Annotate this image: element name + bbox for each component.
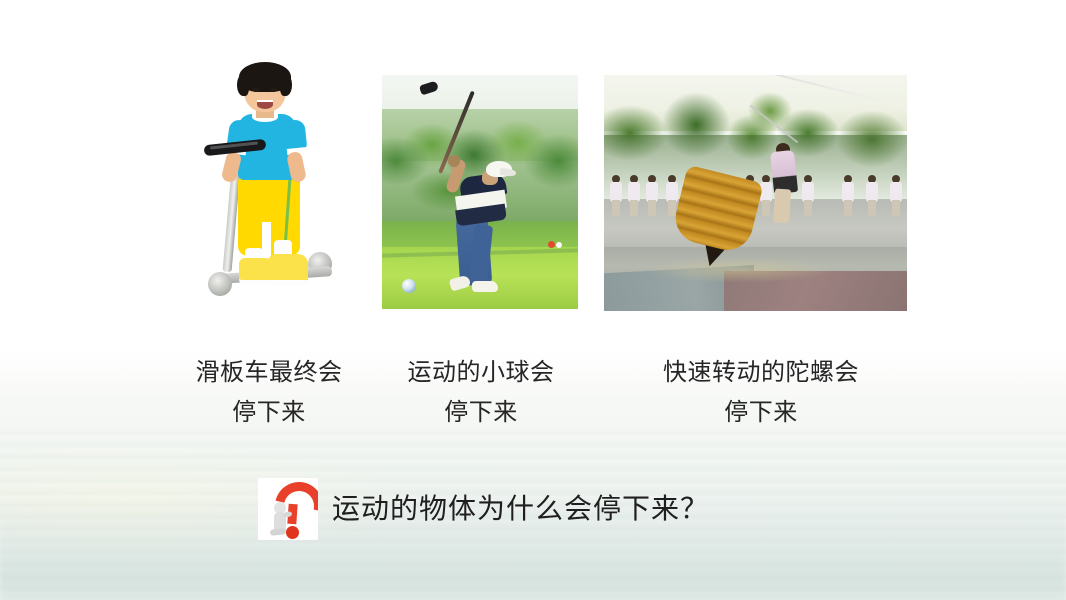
plaza-wet-patch: [644, 257, 834, 283]
boy-eye-left: [252, 88, 259, 92]
crowd-person: [842, 175, 854, 215]
golf-tee-marker-red: [548, 241, 555, 248]
boy-leg-gap: [262, 222, 271, 258]
boy-hair-side-left: [237, 74, 249, 96]
caption-spinning-top: 快速转动的陀螺会 停下来: [618, 352, 904, 432]
golf-tee-marker-white: [556, 242, 562, 248]
crowd-person: [646, 175, 658, 215]
boy-shoe-right: [268, 254, 308, 286]
image-spinning-top: [604, 75, 907, 311]
caption-golf-ball: 运动的小球会 停下来: [388, 352, 574, 432]
image-boy-on-scooter: [192, 62, 344, 314]
golfer-shoe-front: [472, 281, 498, 292]
golfer-glove: [448, 155, 460, 167]
image-golfer-swing: [382, 75, 578, 309]
crowd-person: [760, 175, 772, 215]
crowd-person: [628, 175, 640, 215]
boy-hair-side-right: [280, 74, 292, 96]
crowd-person: [890, 175, 902, 215]
question-row: 运动的物体为什么会停下来？: [258, 478, 709, 540]
golf-ball: [402, 279, 416, 293]
crowd-person: [866, 175, 878, 215]
question-mark-icon: [258, 478, 318, 540]
question-mark-dot: [286, 526, 299, 539]
figure-leg: [270, 528, 287, 536]
question-text: 运动的物体为什么会停下来？: [332, 492, 709, 526]
caption-scooter: 滑板车最终会 停下来: [166, 352, 372, 432]
whipper-legs: [773, 188, 791, 223]
scooter-front-wheel: [208, 272, 232, 296]
slide-canvas: 滑板车最终会 停下来 运动的小球会 停下来 快速转动的陀螺会 停下来 运动的物体…: [0, 0, 1066, 600]
picture-row: [0, 0, 1066, 330]
scooter-illustration: [192, 62, 344, 314]
boy-mouth: [257, 100, 273, 109]
crowd-person: [610, 175, 622, 215]
boy-eye-right: [270, 88, 277, 92]
crowd-person: [802, 175, 814, 215]
whipper-body: [770, 150, 798, 194]
